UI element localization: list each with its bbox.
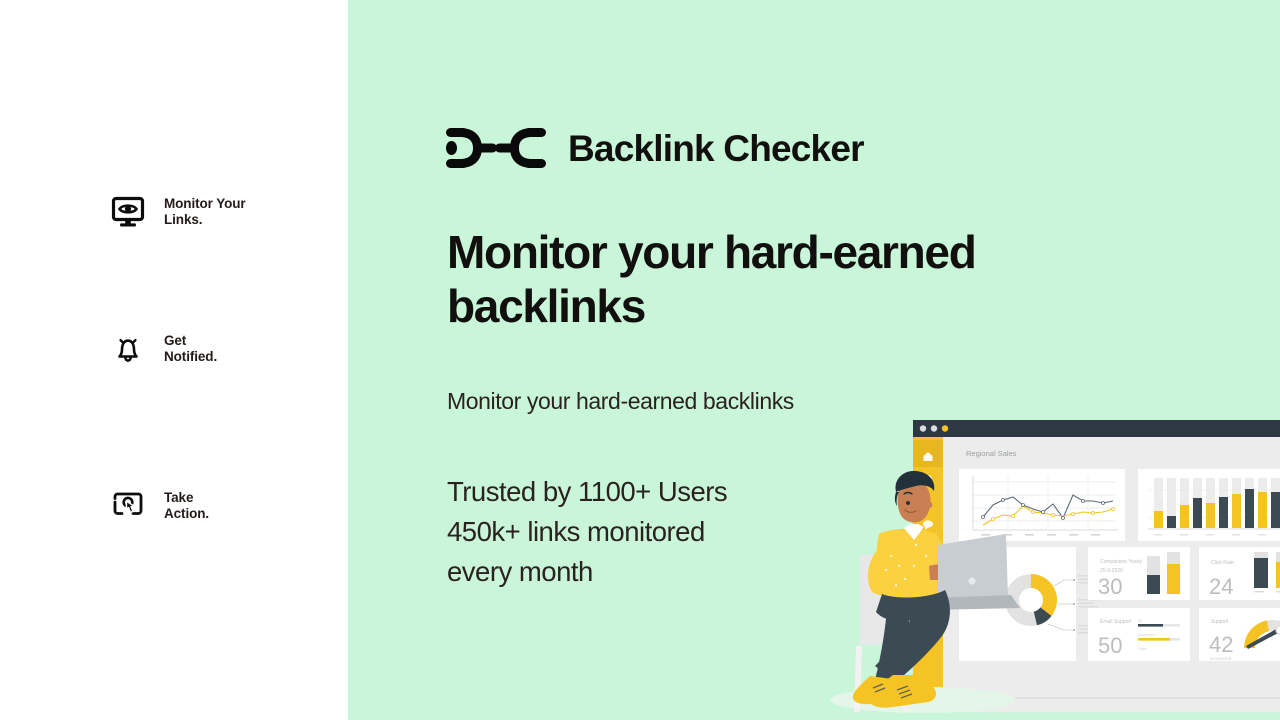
feature-list: Monitor Your Links. Get Notified. — [0, 0, 348, 720]
card-comparison-yearly: Comparison Yearly 25-9-2020 30 — [1088, 547, 1190, 600]
svg-text:Regional use: Regional use — [973, 562, 1003, 568]
card-email-support: Email Support 50 20 Unopened Open — [1088, 608, 1190, 661]
svg-text:Click Rate: Click Rate — [1211, 560, 1234, 566]
bar-chart-card — [1138, 469, 1280, 541]
sidebar-item-get-notified[interactable]: Get Notified. — [108, 331, 217, 369]
svg-text:30: 30 — [1098, 574, 1122, 599]
card-regional-use: Regional use — [959, 547, 1100, 661]
svg-text:25-9-2020: 25-9-2020 — [1100, 568, 1123, 574]
card-support: Support 42 Unopened — [1199, 608, 1280, 661]
hero-stats: Trusted by 1100+ Users 450k+ links monit… — [447, 472, 877, 592]
hero-subheadline: Monitor your hard-earned backlinks — [447, 386, 794, 416]
landing-page: Monitor Your Links. Get Notified. — [0, 0, 1280, 720]
sidebar-item-monitor-your-links[interactable]: Monitor Your Links. — [108, 194, 246, 232]
dashboard-window: Regional Sales — [913, 420, 1280, 712]
sidebar-item-label: Monitor Your Links. — [164, 194, 246, 228]
svg-text:Unopened: Unopened — [1138, 633, 1155, 637]
svg-text:Open: Open — [1138, 647, 1147, 651]
svg-text:24: 24 — [1209, 574, 1233, 599]
monitor-eye-icon — [108, 192, 148, 232]
hero-panel: Regional Sales — [348, 0, 1280, 720]
dashboard-window-title: Regional Sales — [966, 449, 1017, 458]
svg-text:Email Support: Email Support — [1100, 619, 1132, 625]
svg-text:Support: Support — [1211, 619, 1229, 625]
sidebar-item-take-action[interactable]: Take Action. — [108, 488, 209, 526]
svg-text:Unopened: Unopened — [1210, 656, 1232, 661]
svg-text:42: 42 — [1209, 632, 1233, 657]
svg-text:20: 20 — [1138, 619, 1142, 623]
line-chart-card — [959, 469, 1125, 541]
svg-text:50: 50 — [1098, 633, 1122, 658]
sidebar-item-label: Take Action. — [164, 488, 209, 522]
sidebar-item-label: Get Notified. — [164, 331, 217, 365]
bell-icon — [108, 329, 148, 369]
hero-headline: Monitor your hard-earned backlinks — [447, 225, 1087, 333]
page-title: Backlink Checker — [568, 130, 864, 167]
left-feature-panel: Monitor Your Links. Get Notified. — [0, 0, 348, 720]
tap-screen-icon — [108, 486, 148, 526]
dashboard-illustration: Regional Sales — [348, 0, 1280, 720]
brand: Backlink Checker — [446, 124, 864, 172]
svg-text:Comparison Yearly: Comparison Yearly — [1100, 559, 1142, 565]
chain-link-icon — [446, 124, 546, 172]
card-click-rate: Click Rate 24 — [1199, 547, 1280, 600]
